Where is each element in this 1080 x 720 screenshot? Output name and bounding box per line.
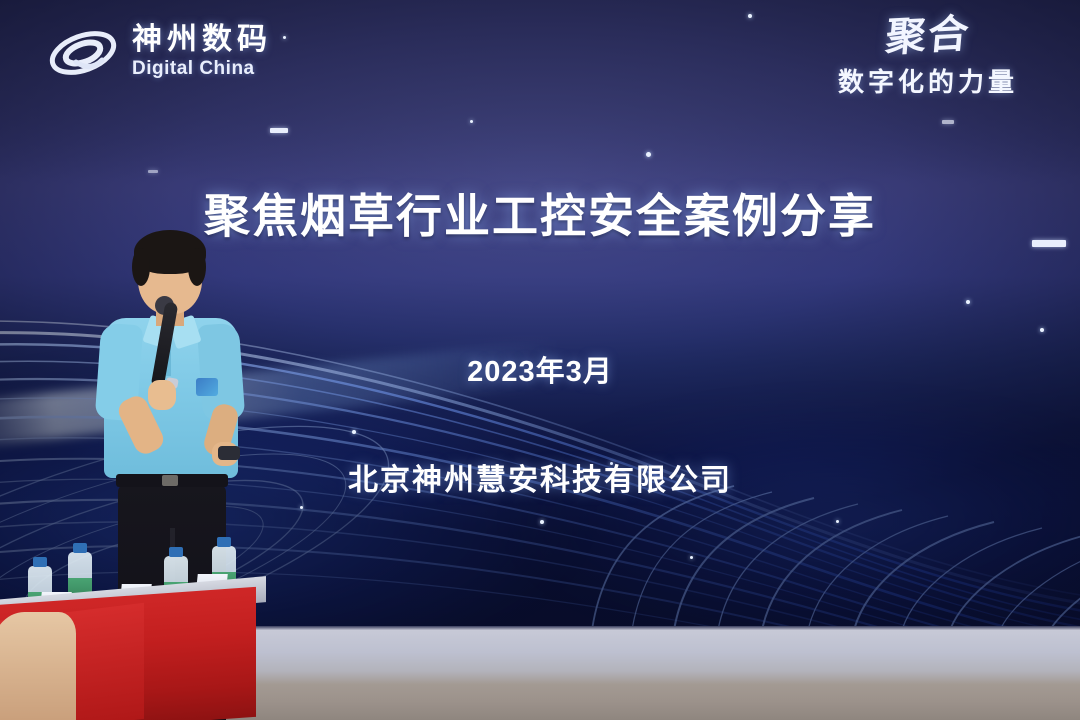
speaker-hair-side-right — [188, 248, 206, 286]
bottle-cap — [33, 557, 47, 567]
particle-dot — [300, 506, 303, 509]
sponsor-logo: 神州数码 Digital China — [46, 22, 272, 84]
digital-china-swirl-icon — [46, 22, 120, 84]
particle-dot — [646, 152, 651, 157]
speaker-hair-side-left — [132, 248, 150, 286]
particle-dot — [690, 556, 693, 559]
shirt-logo-icon — [196, 378, 218, 396]
conference-photo: 神州数码 Digital China 聚合 数字化的力量 聚焦烟草行业工控安全案… — [0, 0, 1080, 720]
particle-dot — [470, 120, 473, 123]
seated-attendee — [0, 612, 76, 720]
sponsor-name-cn: 神州数码 — [132, 25, 272, 55]
bottle-cap — [217, 537, 231, 547]
sponsor-name-en: Digital China — [132, 57, 272, 82]
particle-dash — [148, 170, 158, 173]
particle-dash — [270, 128, 288, 133]
particle-dash — [942, 120, 954, 124]
speaker-hand-left — [148, 380, 176, 410]
particle-dot — [748, 14, 752, 18]
particle-dot — [836, 520, 839, 523]
bottle-cap — [73, 543, 87, 553]
particle-dot — [283, 36, 286, 39]
event-brandmark: 聚合 数字化的力量 — [798, 16, 1058, 99]
event-tagline: 数字化的力量 — [798, 62, 1058, 99]
particle-dot — [1040, 328, 1044, 332]
presentation-clicker — [218, 446, 240, 460]
event-calligraphy: 聚合 — [795, 9, 1060, 63]
particle-dot — [540, 520, 544, 524]
bottle-cap — [169, 547, 183, 557]
belt-buckle — [162, 475, 178, 486]
particle-dot — [352, 430, 356, 434]
particle-dot — [966, 300, 970, 304]
